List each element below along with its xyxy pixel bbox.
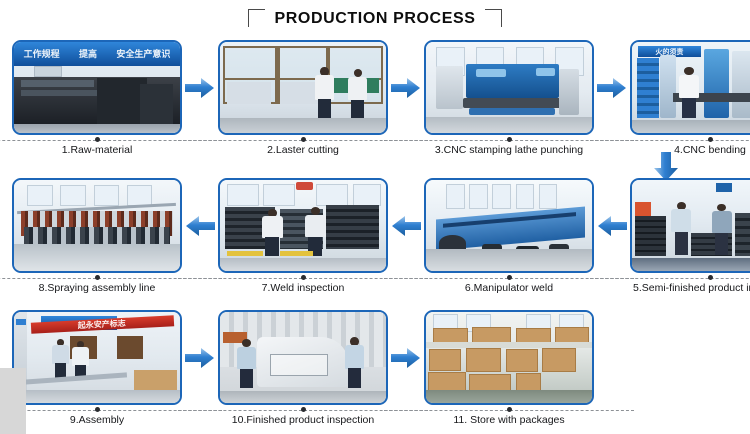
process-step-4[interactable]: 火的须责 4.CNC bending — [630, 40, 750, 162]
step-3-photo — [426, 42, 592, 133]
step-4-rail — [590, 140, 750, 141]
step-10-photo — [220, 312, 386, 403]
step-8-caption: 8.Spraying assembly line — [36, 281, 159, 295]
arrow-right-icon — [597, 77, 627, 99]
step-3-photo-frame — [424, 40, 594, 135]
step-10-photo-frame — [218, 310, 388, 405]
step-10-caption: 10.Finished product inspection — [229, 413, 377, 427]
arrow-left-icon — [185, 215, 215, 237]
arrow-right-2 — [388, 40, 424, 135]
step-11-caption-zone: 11. Store with packages — [424, 407, 594, 428]
step-1-photo-frame: 工作规程提高安全生产意识 — [12, 40, 182, 135]
step-6-rail-dot — [507, 275, 512, 280]
arrow-right-icon — [391, 77, 421, 99]
arrow-left-1 — [182, 178, 218, 273]
step-7-photo — [220, 180, 386, 271]
arrow-right-icon — [185, 77, 215, 99]
step-4-caption-zone: 4.CNC bending — [630, 137, 750, 158]
step-8-rail-dot — [95, 275, 100, 280]
step-7-caption-zone: 7.Weld inspection — [218, 275, 388, 296]
step-6-photo-frame — [424, 178, 594, 273]
arrow-left-icon — [597, 215, 627, 237]
page-title-box: PRODUCTION PROCESS — [248, 6, 501, 31]
process-row-3: 起永安产标志 9.Assembl — [0, 310, 750, 432]
step-2-caption: 2.Laster cutting — [264, 143, 342, 157]
step-1-photo: 工作规程提高安全生产意识 — [14, 42, 180, 133]
process-step-9[interactable]: 起永安产标志 9.Assembl — [12, 310, 182, 432]
step-2-caption-zone: 2.Laster cutting — [218, 137, 388, 158]
process-step-8[interactable]: 8.Spraying assembly line — [12, 178, 182, 300]
step-5-rail-dot — [708, 275, 713, 280]
step-6-photo — [426, 180, 592, 271]
step-1-rail-dot — [95, 137, 100, 142]
step-6-caption-zone: 6.Manipulator weld — [424, 275, 594, 296]
process-step-6[interactable]: 6.Manipulator weld — [424, 178, 594, 300]
step-9-caption: 9.Assembly — [67, 413, 127, 427]
arrow-left-2 — [388, 178, 424, 273]
bracket-left-icon — [248, 9, 265, 27]
arrow-right-4 — [182, 310, 218, 405]
step-11-rail-dot — [507, 407, 512, 412]
arrow-right-5 — [388, 310, 424, 405]
arrow-left-icon — [391, 215, 421, 237]
step-9-rail-dot — [95, 407, 100, 412]
step-8-photo-frame — [12, 178, 182, 273]
step-3-caption: 3.CNC stamping lathe punching — [432, 143, 586, 157]
step-8-caption-zone: 8.Spraying assembly line — [12, 275, 182, 296]
process-row-2: 8.Spraying assembly line — [0, 178, 750, 300]
step-5-photo-frame: 入室标准 — [630, 178, 750, 273]
step-6-caption: 6.Manipulator weld — [462, 281, 556, 295]
step-7-rail-dot — [301, 275, 306, 280]
step-5-photo: 入室标准 — [632, 180, 750, 271]
step-1-caption-zone: 1.Raw-material — [12, 137, 182, 158]
step-2-photo — [220, 42, 386, 133]
step-4-caption: 4.CNC bending — [671, 143, 749, 157]
step-9-photo-frame: 起永安产标志 — [12, 310, 182, 405]
arrow-right-icon — [391, 347, 421, 369]
process-row-1: 工作规程提高安全生产意识 1.Raw-material — [0, 40, 750, 162]
process-step-11[interactable]: 11. Store with packages — [424, 310, 594, 432]
step-7-caption: 7.Weld inspection — [259, 281, 348, 295]
process-step-2[interactable]: 2.Laster cutting — [218, 40, 388, 162]
step-8-photo — [14, 180, 180, 271]
process-step-3[interactable]: 3.CNC stamping lathe punching — [424, 40, 594, 162]
corner-watermark-bar — [0, 368, 26, 434]
step-1-caption: 1.Raw-material — [59, 143, 136, 157]
page-title-wrap: PRODUCTION PROCESS — [0, 6, 750, 31]
process-step-1[interactable]: 工作规程提高安全生产意识 1.Raw-material — [12, 40, 182, 162]
step-9-photo: 起永安产标志 — [14, 312, 180, 403]
process-step-5[interactable]: 入室标准 5.Semi-fini — [630, 178, 750, 300]
step-11-caption: 11. Store with packages — [450, 413, 567, 427]
process-step-7[interactable]: 7.Weld inspection — [218, 178, 388, 300]
page-title: PRODUCTION PROCESS — [274, 10, 475, 27]
step-3-rail-dot — [507, 137, 512, 142]
arrow-right-3 — [594, 40, 630, 135]
step-2-photo-frame — [218, 40, 388, 135]
step-5-caption: 5.Semi-finished product inspection — [630, 281, 750, 295]
process-step-10[interactable]: 10.Finished product inspection — [218, 310, 388, 432]
arrow-right-1 — [182, 40, 218, 135]
step-7-photo-frame — [218, 178, 388, 273]
step-4-photo: 火的须责 — [632, 42, 750, 133]
step-10-rail-dot — [301, 407, 306, 412]
step-5-caption-zone: 5.Semi-finished product inspection — [630, 275, 750, 296]
step-2-rail-dot — [301, 137, 306, 142]
step-4-photo-frame: 火的须责 — [630, 40, 750, 135]
bracket-right-icon — [485, 9, 502, 27]
step-3-caption-zone: 3.CNC stamping lathe punching — [424, 137, 594, 158]
arrow-left-3 — [594, 178, 630, 273]
step-9-caption-zone: 9.Assembly — [12, 407, 182, 428]
step-11-photo-frame — [424, 310, 594, 405]
step-10-caption-zone: 10.Finished product inspection — [218, 407, 388, 428]
step-4-rail-dot — [708, 137, 713, 142]
arrow-right-icon — [185, 347, 215, 369]
step-11-photo — [426, 312, 592, 403]
step-5-rail — [590, 278, 750, 279]
